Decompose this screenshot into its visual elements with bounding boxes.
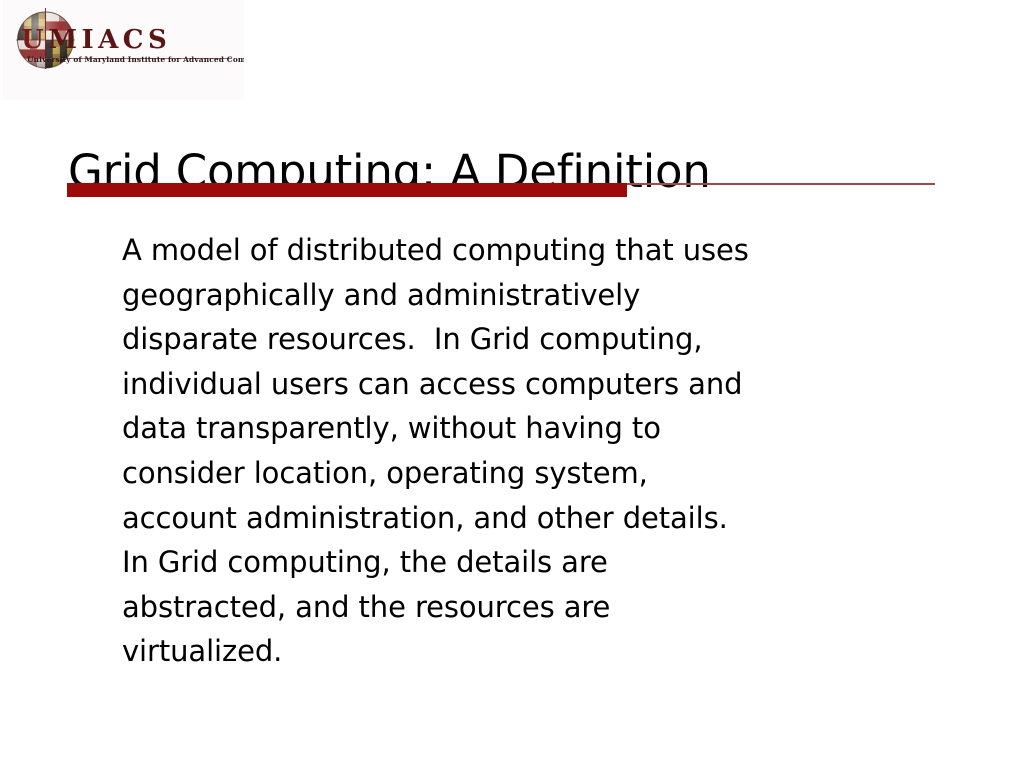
umiacs-logo: UMIACS University of Maryland Institute …: [3, 0, 244, 100]
umiacs-wordmark-rest: MIACS: [48, 25, 171, 55]
slide-body-text: A model of distributed computing that us…: [122, 228, 952, 674]
umiacs-wordmark-initial: U: [21, 25, 48, 55]
slide-canvas: UMIACS University of Maryland Institute …: [0, 0, 1024, 768]
umiacs-wordmark: UMIACS: [21, 27, 171, 53]
umiacs-tagline: University of Maryland Institute for Adv…: [27, 56, 244, 63]
title-divider-thick-bar: [67, 183, 627, 197]
